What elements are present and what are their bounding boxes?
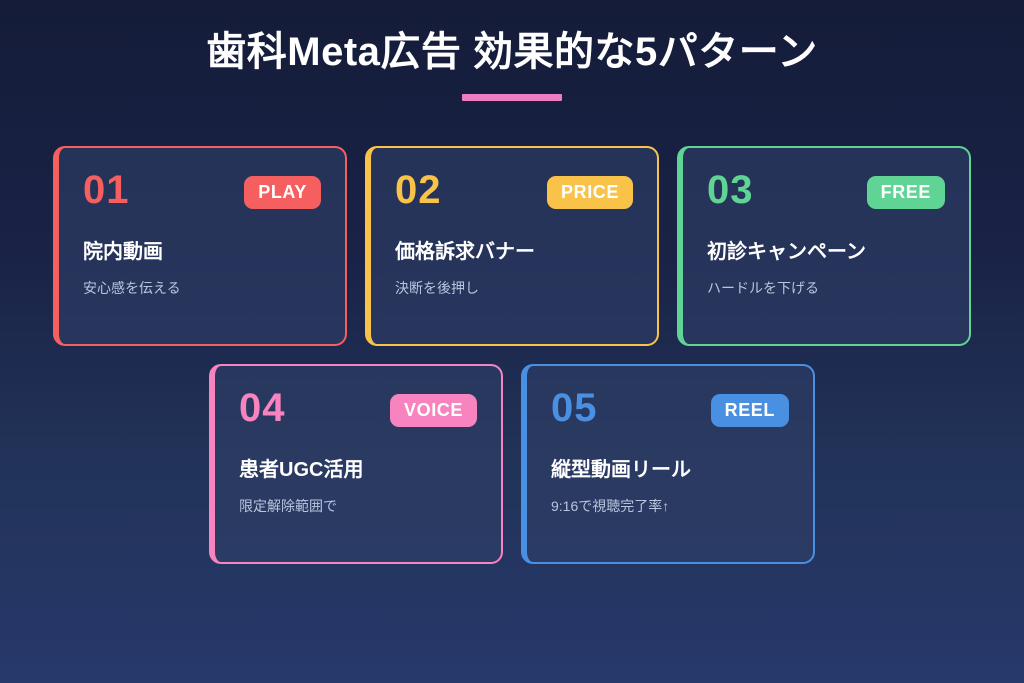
card-badge-price: PRICE: [547, 176, 633, 209]
pattern-card-01[interactable]: 01 PLAY 院内動画 安心感を伝える: [53, 146, 347, 346]
card-number: 02: [395, 170, 442, 210]
card-title: 価格訴求バナー: [395, 240, 633, 265]
card-badge-voice: VOICE: [390, 394, 477, 427]
pattern-card-05[interactable]: 05 REEL 縦型動画リール 9:16で視聴完了率↑: [521, 364, 815, 564]
card-header: 05 REEL: [551, 388, 789, 436]
card-number: 05: [551, 388, 598, 428]
card-subtitle: ハードルを下げる: [707, 279, 945, 299]
card-row-top: 01 PLAY 院内動画 安心感を伝える 02 PRICE 価格訴求バナー 決断…: [0, 146, 1024, 346]
slide-root: 歯科Meta広告 効果的な5パターン 01 PLAY 院内動画 安心感を伝える …: [0, 0, 1024, 683]
pattern-card-03[interactable]: 03 FREE 初診キャンペーン ハードルを下げる: [677, 146, 971, 346]
card-subtitle: 安心感を伝える: [83, 279, 321, 299]
card-title: 院内動画: [83, 240, 321, 265]
card-title: 初診キャンペーン: [707, 240, 945, 265]
card-header: 01 PLAY: [83, 170, 321, 218]
card-title: 縦型動画リール: [551, 458, 789, 483]
pattern-card-02[interactable]: 02 PRICE 価格訴求バナー 決断を後押し: [365, 146, 659, 346]
pattern-card-04[interactable]: 04 VOICE 患者UGC活用 限定解除範囲で: [209, 364, 503, 564]
card-row-bottom: 04 VOICE 患者UGC活用 限定解除範囲で 05 REEL 縦型動画リール…: [0, 364, 1024, 564]
card-subtitle: 9:16で視聴完了率↑: [551, 497, 789, 517]
card-subtitle: 限定解除範囲で: [239, 497, 477, 517]
card-header: 02 PRICE: [395, 170, 633, 218]
card-header: 04 VOICE: [239, 388, 477, 436]
card-badge-reel: REEL: [711, 394, 789, 427]
slide-header: 歯科Meta広告 効果的な5パターン: [0, 0, 1024, 101]
card-number: 03: [707, 170, 754, 210]
card-badge-free: FREE: [867, 176, 945, 209]
page-title: 歯科Meta広告 効果的な5パターン: [0, 28, 1024, 76]
card-title: 患者UGC活用: [239, 458, 477, 483]
card-number: 01: [83, 170, 130, 210]
card-subtitle: 決断を後押し: [395, 279, 633, 299]
title-underline-accent: [462, 94, 562, 101]
card-header: 03 FREE: [707, 170, 945, 218]
card-badge-play: PLAY: [244, 176, 321, 209]
card-number: 04: [239, 388, 286, 428]
